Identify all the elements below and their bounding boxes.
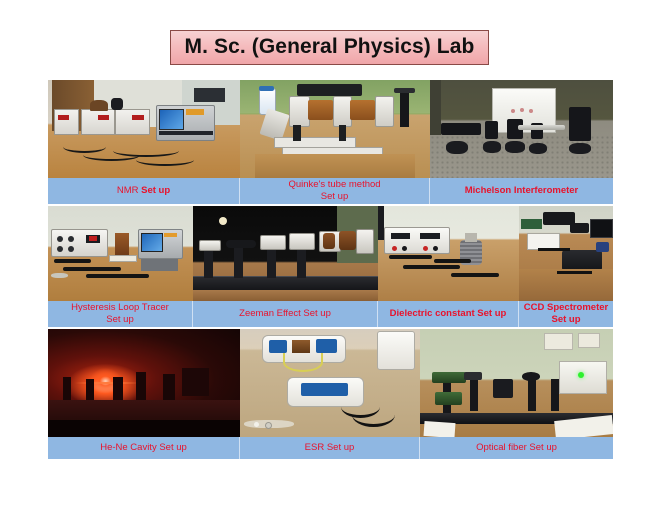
caption-quinkes-strong: Set up [321, 191, 348, 202]
michelson-interferometer-photo[interactable] [430, 80, 613, 178]
caption-dielectric-text: Dielectric constant Set up [390, 308, 507, 320]
dielectric-constant-photo[interactable] [378, 206, 519, 301]
caption-nmr-strong: Set up [141, 185, 170, 196]
caption-michelson-interferometer: Michelson Interferometer [430, 178, 613, 204]
caption-esr-setup: ESR Set up [240, 437, 420, 459]
slide-title-container: M. Sc. (General Physics) Lab [0, 30, 659, 65]
lab-photo-grid: NMR Set up Quinke's tube method Set up M… [48, 80, 613, 459]
caption-he-ne-cavity: He-Ne Cavity Set up [48, 437, 240, 459]
he-ne-cavity-photo[interactable] [48, 329, 240, 437]
caption-hysteresis-loop-tracer: Hysteresis Loop Tracer Set up [48, 301, 193, 327]
caption-strip-row-2: Hysteresis Loop Tracer Set up Zeeman Eff… [48, 301, 613, 327]
caption-optical-fiber-text: Optical fiber Set up [476, 442, 557, 454]
caption-nmr-lead: NMR [117, 185, 141, 196]
caption-hysteresis-lead: Hysteresis Loop Tracer [71, 302, 169, 313]
ccd-spectrometer-photo[interactable] [519, 206, 613, 301]
caption-dielectric-constant: Dielectric constant Set up [378, 301, 519, 327]
lab-row-3: He-Ne Cavity Set up ESR Set up Optical f… [48, 329, 613, 459]
caption-ccd-spectrometer: CCD Spectrometer Set up [519, 301, 613, 327]
caption-nmr-setup: NMR Set up [48, 178, 240, 204]
photo-strip-row-2 [48, 206, 613, 301]
nmr-setup-photo[interactable] [48, 80, 240, 178]
caption-quinkes-tube: Quinke's tube method Set up [240, 178, 430, 204]
caption-michelson-text: Michelson Interferometer [465, 185, 579, 197]
photo-strip-row-1 [48, 80, 613, 178]
caption-hysteresis-strong: Set up [106, 314, 133, 325]
page-title: M. Sc. (General Physics) Lab [170, 30, 490, 65]
caption-ccd-text: CCD Spectrometer Set up [521, 302, 611, 325]
zeeman-effect-photo[interactable] [193, 206, 378, 301]
caption-esr-text: ESR Set up [305, 442, 355, 454]
caption-strip-row-3: He-Ne Cavity Set up ESR Set up Optical f… [48, 437, 613, 459]
caption-zeeman-text: Zeeman Effect Set up [239, 308, 331, 320]
quinkes-tube-photo[interactable] [240, 80, 430, 178]
caption-quinkes-lead: Quinke's tube method [288, 179, 380, 190]
lab-row-1: NMR Set up Quinke's tube method Set up M… [48, 80, 613, 204]
caption-he-ne-text: He-Ne Cavity Set up [100, 442, 187, 454]
lab-row-2: Hysteresis Loop Tracer Set up Zeeman Eff… [48, 206, 613, 327]
caption-zeeman-effect: Zeeman Effect Set up [193, 301, 378, 327]
optical-fiber-photo[interactable] [420, 329, 613, 437]
caption-optical-fiber: Optical fiber Set up [420, 437, 613, 459]
hysteresis-loop-tracer-photo[interactable] [48, 206, 193, 301]
photo-strip-row-3 [48, 329, 613, 437]
esr-setup-photo[interactable] [240, 329, 420, 437]
caption-strip-row-1: NMR Set up Quinke's tube method Set up M… [48, 178, 613, 204]
